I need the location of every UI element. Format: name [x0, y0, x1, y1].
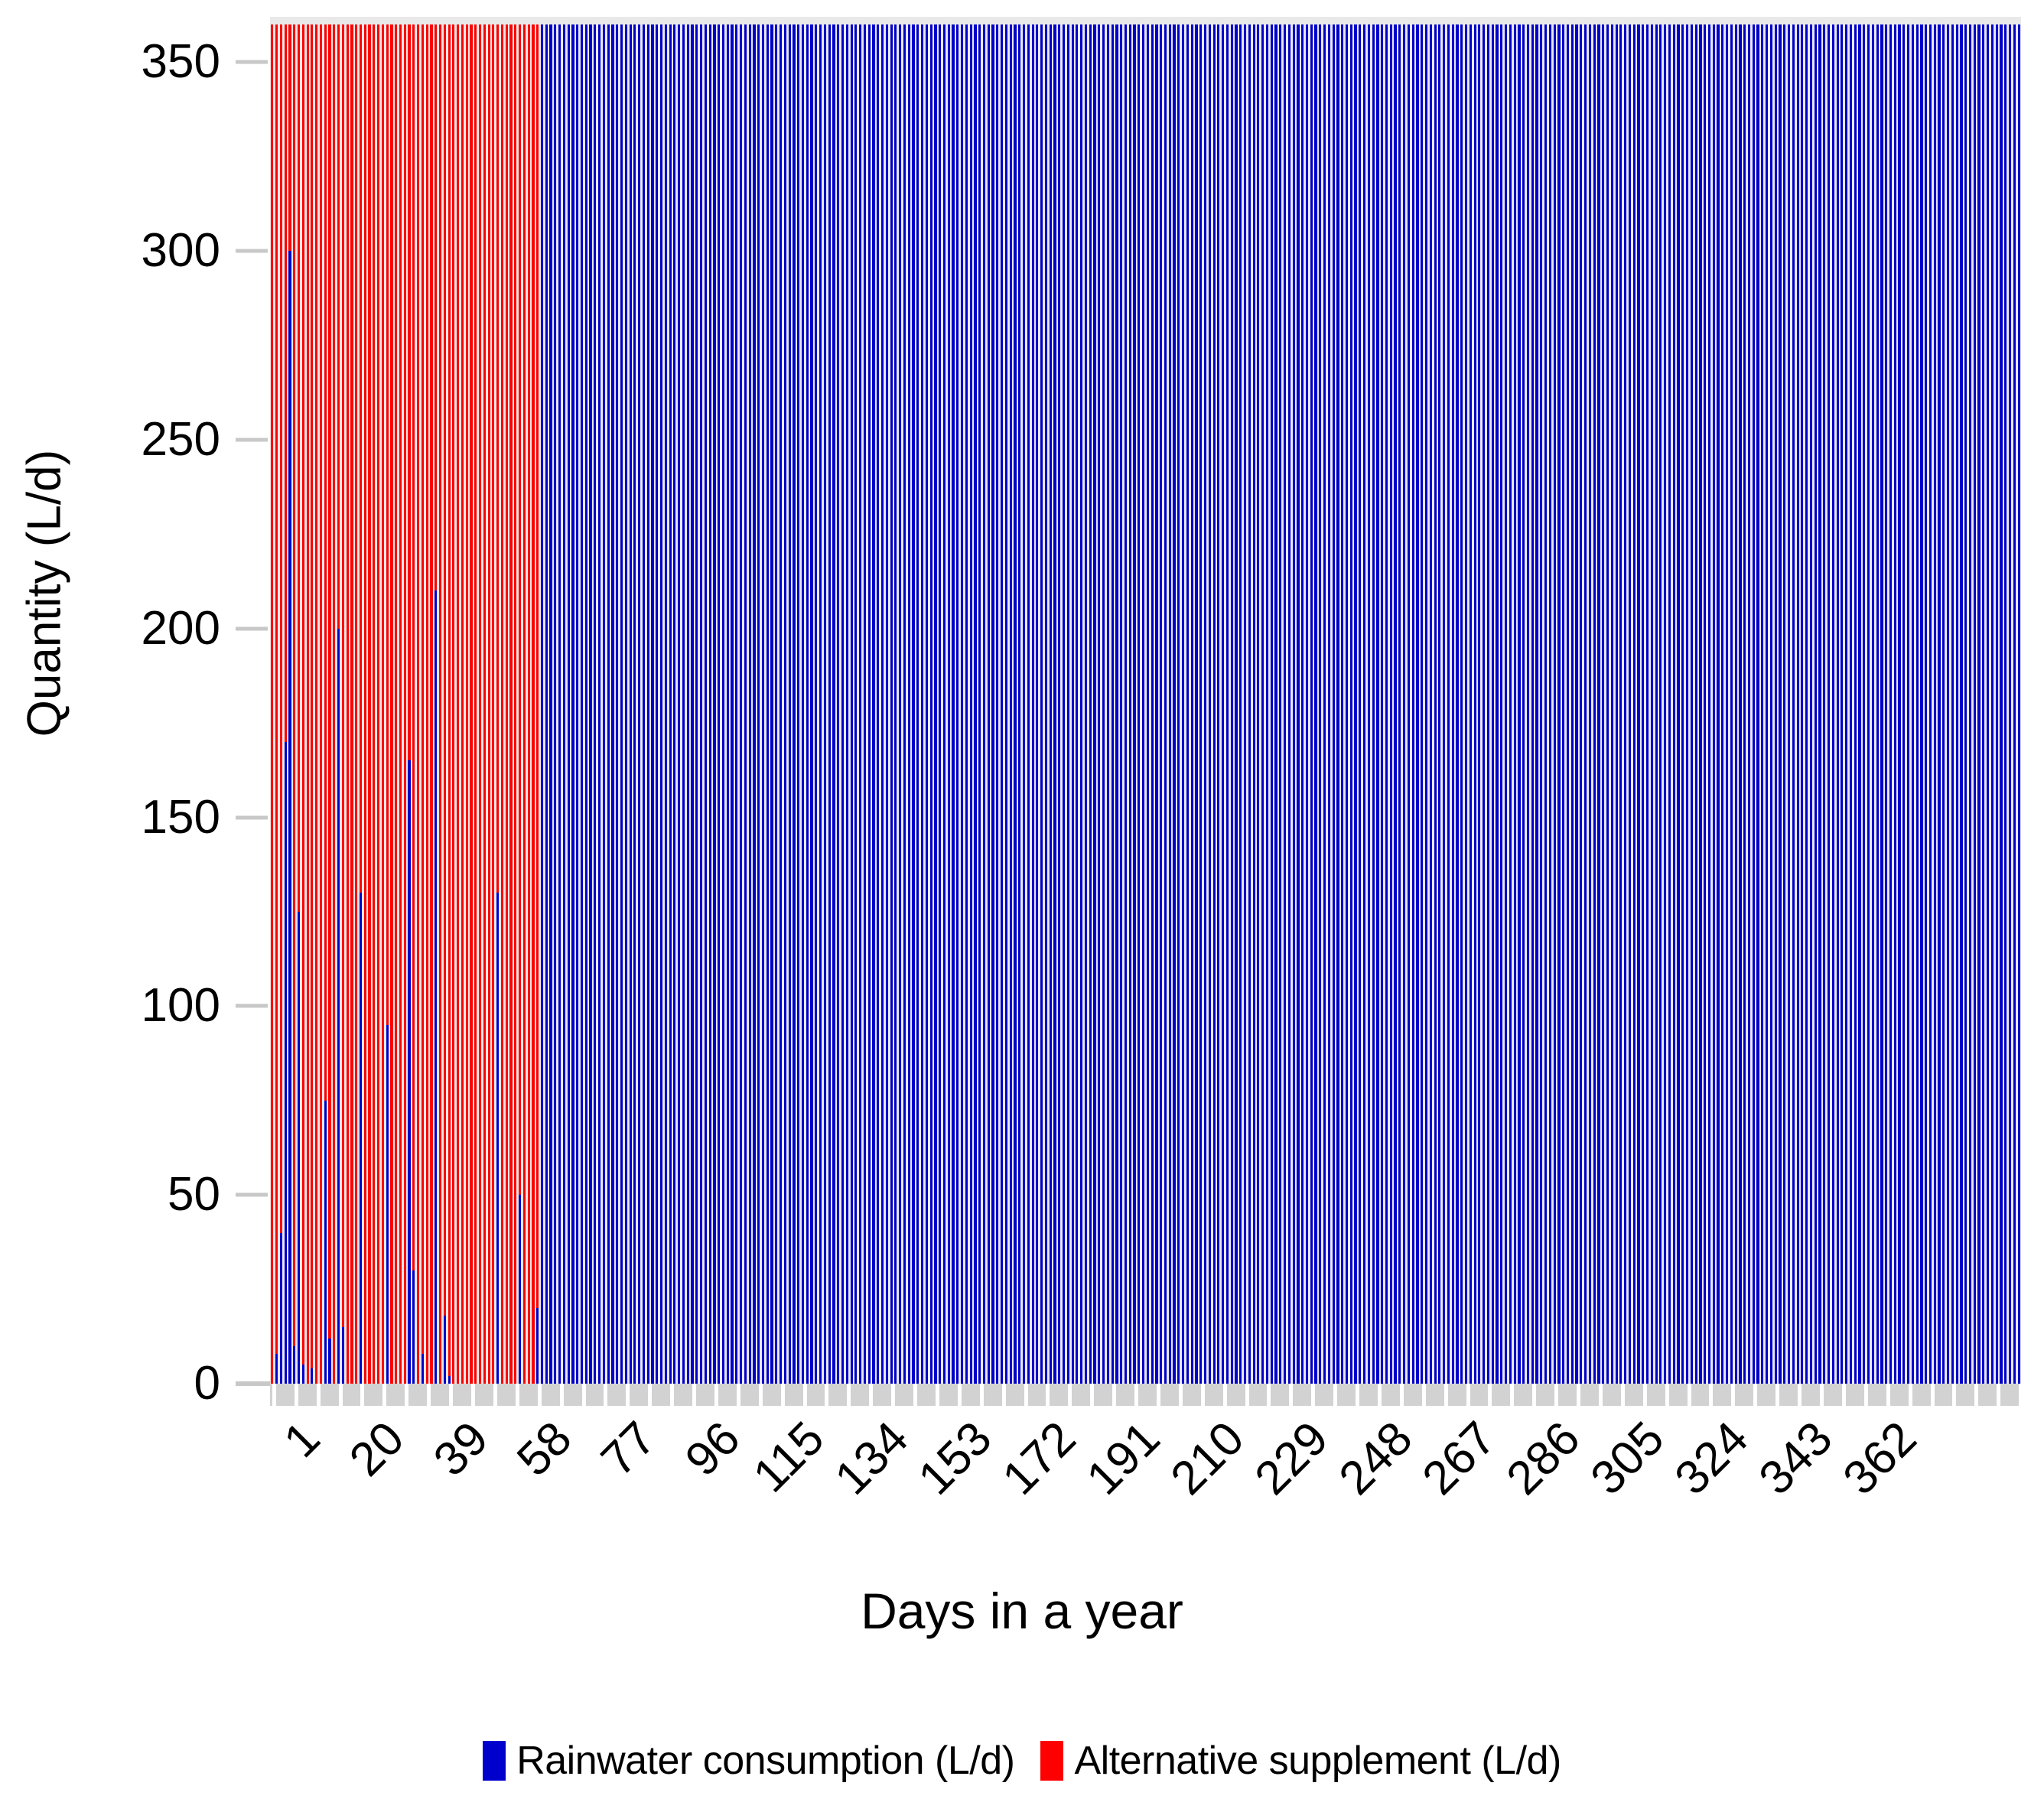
bar-segment-rainwater-consumption — [568, 24, 570, 1384]
bar — [638, 24, 640, 1384]
y-tick-label: 150 — [142, 794, 220, 841]
bar — [930, 24, 932, 1384]
bar-segment-rainwater-consumption — [1629, 24, 1631, 1384]
bar — [1673, 24, 1675, 1384]
bar-segment-rainwater-consumption — [1050, 24, 1052, 1384]
bar-segment-rainwater-consumption — [589, 24, 591, 1384]
bar-segment-rainwater-consumption — [1089, 24, 1092, 1384]
bar — [956, 24, 959, 1384]
bar-segment-rainwater-consumption — [1492, 24, 1494, 1384]
x-tick-label: 267 — [1412, 1411, 1506, 1505]
bar-segment-alternative-supplement — [528, 24, 530, 1384]
bar-segment-rainwater-consumption — [1554, 24, 1556, 1384]
bar-segment-rainwater-consumption — [974, 24, 976, 1384]
bar-segment-alternative-supplement — [457, 24, 459, 1384]
bar-segment-rainwater-consumption — [1209, 24, 1211, 1384]
bar — [1713, 24, 1715, 1384]
bar-segment-rainwater-consumption — [1151, 24, 1154, 1384]
bar-segment-rainwater-consumption — [1743, 24, 1746, 1384]
x-axis-band-tick — [648, 1384, 652, 1406]
bar-segment-rainwater-consumption — [598, 24, 601, 1384]
bar — [1726, 24, 1728, 1384]
bar — [439, 24, 441, 1384]
bar — [625, 24, 627, 1384]
bar-segment-rainwater-consumption — [1199, 24, 1202, 1384]
bar — [1646, 24, 1649, 1384]
bar-segment-rainwater-consumption — [1850, 24, 1852, 1384]
bar-segment-rainwater-consumption — [1597, 24, 1600, 1384]
bar — [630, 24, 632, 1384]
bar — [1204, 24, 1206, 1384]
bar-segment-rainwater-consumption — [753, 24, 755, 1384]
x-tick-label: 305 — [1580, 1411, 1675, 1505]
bar-segment-rainwater-consumption — [1837, 24, 1839, 1384]
x-axis-band-tick — [847, 1384, 851, 1406]
bar-segment-rainwater-consumption — [1894, 24, 1896, 1384]
bar — [1925, 24, 1927, 1384]
bar — [731, 24, 733, 1384]
bar — [1005, 24, 1007, 1384]
bar-segment-alternative-supplement — [488, 24, 490, 1384]
x-axis-band-tick — [1157, 1384, 1160, 1406]
x-axis-band-tick — [1134, 1384, 1138, 1406]
bar-segment-rainwater-consumption — [1593, 24, 1596, 1384]
bar — [687, 24, 689, 1384]
x-axis-band-tick — [737, 1384, 740, 1406]
bar-segment-rainwater-consumption — [1027, 24, 1030, 1384]
bar — [903, 24, 906, 1384]
bar — [948, 24, 950, 1384]
bar-segment-rainwater-consumption — [815, 24, 817, 1384]
x-axis-band-tick — [1179, 1384, 1183, 1406]
bar-segment-rainwater-consumption — [1713, 24, 1715, 1384]
x-tick-label: 248 — [1328, 1411, 1422, 1505]
bar — [1354, 24, 1356, 1384]
bar-segment-rainwater-consumption — [1072, 24, 1074, 1384]
bar-segment-rainwater-consumption — [757, 24, 760, 1384]
bar — [417, 24, 419, 1384]
bar — [532, 24, 534, 1384]
bar-segment-rainwater-consumption — [1323, 24, 1326, 1384]
bar — [554, 24, 556, 1384]
bar-segment-rainwater-consumption — [1779, 24, 1781, 1384]
bar-segment-rainwater-consumption — [1633, 24, 1636, 1384]
bar-segment-rainwater-consumption — [2018, 24, 2020, 1384]
bar-segment-rainwater-consumption — [1076, 24, 1078, 1384]
bar-segment-rainwater-consumption — [1244, 24, 1246, 1384]
bar-segment-alternative-supplement — [492, 24, 494, 1384]
bar — [722, 24, 724, 1384]
bar — [886, 24, 888, 1384]
bar-segment-rainwater-consumption — [824, 24, 826, 1384]
bar — [1412, 24, 1414, 1384]
bar-segment-rainwater-consumption — [337, 629, 340, 1384]
bar-segment-alternative-supplement — [506, 24, 508, 1384]
bar — [1169, 24, 1171, 1384]
bar — [1160, 24, 1162, 1384]
x-tick-label: 191 — [1076, 1411, 1170, 1505]
x-axis-band-tick — [1688, 1384, 1691, 1406]
bar-segment-rainwater-consumption — [1987, 24, 1989, 1384]
bar-segment-rainwater-consumption — [1951, 24, 1954, 1384]
bar — [1633, 24, 1636, 1384]
bar-segment-rainwater-consumption — [1770, 24, 1772, 1384]
bar-segment-rainwater-consumption — [288, 251, 291, 1384]
bar-segment-rainwater-consumption — [1756, 24, 1759, 1384]
bar — [815, 24, 817, 1384]
bar-segment-rainwater-consumption — [1815, 24, 1817, 1384]
bar-segment-rainwater-consumption — [988, 24, 990, 1384]
y-tick-mark — [236, 1193, 268, 1197]
bar — [695, 24, 698, 1384]
bar-segment-rainwater-consumption — [921, 24, 923, 1384]
bar-segment-alternative-supplement — [532, 24, 534, 1384]
bar — [328, 24, 330, 1384]
bar — [576, 24, 578, 1384]
bar-segment-rainwater-consumption — [894, 24, 897, 1384]
bar — [1398, 24, 1401, 1384]
bar-segment-rainwater-consumption — [1739, 24, 1741, 1384]
bar-segment-rainwater-consumption — [1956, 24, 1958, 1384]
y-tick-label: 350 — [142, 38, 220, 86]
bar-segment-rainwater-consumption — [1646, 24, 1649, 1384]
x-axis-band-tick — [1798, 1384, 1802, 1406]
bar — [643, 24, 645, 1384]
x-axis-band-tick — [427, 1384, 431, 1406]
bar — [1982, 24, 1984, 1384]
bar-segment-rainwater-consumption — [1518, 24, 1520, 1384]
bar-segment-rainwater-consumption — [1040, 24, 1043, 1384]
bar — [2004, 24, 2007, 1384]
bar-segment-rainwater-consumption — [1271, 24, 1273, 1384]
bar — [1629, 24, 1631, 1384]
bar-segment-rainwater-consumption — [1902, 24, 1905, 1384]
bar-segment-rainwater-consumption — [594, 24, 596, 1384]
bar-segment-alternative-supplement — [474, 24, 477, 1384]
bar — [1885, 24, 1887, 1384]
bar — [1677, 24, 1679, 1384]
bar — [1756, 24, 1759, 1384]
bar — [1996, 24, 1998, 1384]
bar — [404, 24, 406, 1384]
bar-segment-rainwater-consumption — [1619, 24, 1622, 1384]
bar — [846, 24, 848, 1384]
bar — [770, 24, 773, 1384]
bar-segment-alternative-supplement — [470, 24, 472, 1384]
x-axis-band-tick — [692, 1384, 696, 1406]
bar-segment-rainwater-consumption — [1624, 24, 1626, 1384]
x-axis-band-tick — [604, 1384, 607, 1406]
bar — [1571, 24, 1574, 1384]
bar-segment-rainwater-consumption — [1549, 24, 1551, 1384]
bar-segment-rainwater-consumption — [872, 24, 874, 1384]
bar-segment-rainwater-consumption — [1557, 24, 1560, 1384]
x-tick-label: 39 — [423, 1411, 499, 1487]
bar-segment-rainwater-consumption — [766, 24, 769, 1384]
bar — [1611, 24, 1613, 1384]
bar — [1394, 24, 1396, 1384]
bar-segment-rainwater-consumption — [1155, 24, 1157, 1384]
bar — [749, 24, 751, 1384]
bar — [1293, 24, 1295, 1384]
bar-segment-rainwater-consumption — [1147, 24, 1149, 1384]
bar — [1845, 24, 1847, 1384]
bar — [890, 24, 893, 1384]
bar — [1310, 24, 1313, 1384]
bar — [1527, 24, 1529, 1384]
bar-segment-rainwater-consumption — [890, 24, 893, 1384]
bar — [660, 24, 662, 1384]
bar-segment-alternative-supplement — [430, 24, 432, 1384]
bar — [1284, 24, 1286, 1384]
bar — [1929, 24, 1932, 1384]
legend-item[interactable]: Rainwater consumption (L/d) — [483, 1738, 1014, 1784]
bar-segment-alternative-supplement — [408, 24, 410, 761]
bar — [1704, 24, 1706, 1384]
bar-segment-rainwater-consumption — [1412, 24, 1414, 1384]
bar — [1540, 24, 1542, 1384]
bar — [1301, 24, 1304, 1384]
bar-segment-rainwater-consumption — [625, 24, 627, 1384]
x-axis-band — [270, 1384, 2021, 1406]
bar-segment-rainwater-consumption — [1284, 24, 1286, 1384]
bar-segment-rainwater-consumption — [970, 24, 972, 1384]
bar — [988, 24, 990, 1384]
bar — [647, 24, 649, 1384]
bar-segment-rainwater-consumption — [1942, 24, 1945, 1384]
bar — [1509, 24, 1512, 1384]
bar — [1823, 24, 1825, 1384]
bar — [549, 24, 552, 1384]
bar — [810, 24, 812, 1384]
bar — [1593, 24, 1596, 1384]
bar — [1010, 24, 1012, 1384]
bar — [474, 24, 477, 1384]
x-axis-band-tick — [1245, 1384, 1249, 1406]
bar-segment-rainwater-consumption — [571, 24, 574, 1384]
bar-segment-rainwater-consumption — [1496, 24, 1498, 1384]
bar-segment-rainwater-consumption — [1677, 24, 1679, 1384]
bar — [1416, 24, 1418, 1384]
x-axis-band-tick — [958, 1384, 962, 1406]
bar-segment-rainwater-consumption — [1456, 24, 1458, 1384]
bar-segment-rainwater-consumption — [1045, 24, 1047, 1384]
bar-segment-rainwater-consumption — [1691, 24, 1693, 1384]
bar-segment-rainwater-consumption — [841, 24, 844, 1384]
bar — [1328, 24, 1330, 1384]
x-axis-band-tick — [1886, 1384, 1890, 1406]
bar-segment-alternative-supplement — [302, 24, 304, 1365]
bar-segment-rainwater-consumption — [1788, 24, 1790, 1384]
bar-segment-rainwater-consumption — [536, 1308, 539, 1384]
bar — [1580, 24, 1582, 1384]
bar — [607, 24, 610, 1384]
bar-segment-rainwater-consumption — [908, 24, 910, 1384]
bar — [1642, 24, 1644, 1384]
bar — [1894, 24, 1896, 1384]
bar — [1182, 24, 1184, 1384]
legend-label: Alternative supplement (L/d) — [1074, 1738, 1561, 1784]
bar — [912, 24, 914, 1384]
bar — [1518, 24, 1520, 1384]
bar-segment-rainwater-consumption — [1447, 24, 1450, 1384]
x-axis-band-tick — [339, 1384, 343, 1406]
bar — [1761, 24, 1763, 1384]
bar-segment-rainwater-consumption — [1531, 24, 1534, 1384]
bar — [908, 24, 910, 1384]
bar-segment-rainwater-consumption — [1522, 24, 1525, 1384]
bar-segment-alternative-supplement — [285, 24, 287, 742]
bar — [390, 24, 392, 1384]
bar-segment-rainwater-consumption — [828, 24, 831, 1384]
bar — [1244, 24, 1246, 1384]
bar — [1554, 24, 1556, 1384]
x-axis-band-tick — [1201, 1384, 1205, 1406]
x-axis-band-tick — [913, 1384, 917, 1406]
bar — [983, 24, 985, 1384]
bar — [1027, 24, 1030, 1384]
bar-segment-rainwater-consumption — [1761, 24, 1763, 1384]
bar-segment-rainwater-consumption — [1001, 24, 1003, 1384]
bar-segment-alternative-supplement — [360, 24, 362, 893]
bar — [1072, 24, 1074, 1384]
bar-segment-rainwater-consumption — [1346, 24, 1348, 1384]
x-axis-band-tick — [936, 1384, 939, 1406]
bar — [1858, 24, 1860, 1384]
x-tick-label: 1 — [273, 1411, 330, 1469]
bar-segment-rainwater-consumption — [1535, 24, 1538, 1384]
bar-segment-rainwater-consumption — [939, 24, 941, 1384]
bar-segment-rainwater-consumption — [1602, 24, 1604, 1384]
bar — [364, 24, 366, 1384]
bar — [311, 24, 313, 1384]
bar-segment-rainwater-consumption — [1606, 24, 1609, 1384]
bar — [581, 24, 583, 1384]
x-axis-band-tick — [1997, 1384, 2000, 1406]
bar-segment-rainwater-consumption — [541, 24, 543, 1384]
bar — [1535, 24, 1538, 1384]
bar — [285, 24, 287, 1384]
bar-segment-alternative-supplement — [386, 24, 389, 1025]
x-tick-label: 58 — [507, 1411, 583, 1487]
bar-segment-rainwater-consumption — [943, 24, 946, 1384]
x-tick-label: 343 — [1749, 1411, 1843, 1505]
bar-segment-rainwater-consumption — [1889, 24, 1892, 1384]
bar-segment-rainwater-consumption — [749, 24, 751, 1384]
bar — [2018, 24, 2020, 1384]
bar-segment-alternative-supplement — [399, 24, 402, 1384]
bar — [1120, 24, 1122, 1384]
x-axis-band-tick — [670, 1384, 674, 1406]
bar-segment-rainwater-consumption — [1544, 24, 1547, 1384]
bar — [1934, 24, 1936, 1384]
bar — [315, 24, 317, 1384]
bar — [1155, 24, 1157, 1384]
bar — [633, 24, 636, 1384]
bar-segment-rainwater-consumption — [983, 24, 985, 1384]
bar — [298, 24, 300, 1384]
bar — [528, 24, 530, 1384]
bar — [1549, 24, 1551, 1384]
bar-segment-rainwater-consumption — [859, 24, 861, 1384]
bar-segment-rainwater-consumption — [285, 742, 287, 1384]
bar — [757, 24, 760, 1384]
bar — [1841, 24, 1843, 1384]
bar-segment-rainwater-consumption — [793, 24, 795, 1384]
bar — [1001, 24, 1003, 1384]
bar — [1889, 24, 1892, 1384]
bar — [355, 24, 357, 1384]
legend-item[interactable]: Alternative supplement (L/d) — [1040, 1738, 1561, 1784]
bar-segment-alternative-supplement — [509, 24, 512, 1384]
bar — [598, 24, 601, 1384]
bar-segment-rainwater-consumption — [780, 24, 782, 1384]
bar-segment-rainwater-consumption — [1063, 24, 1065, 1384]
x-axis-band-tick — [1002, 1384, 1006, 1406]
bar-segment-rainwater-consumption — [1655, 24, 1658, 1384]
x-tick-label: 362 — [1832, 1411, 1926, 1505]
bar-segment-rainwater-consumption — [1730, 24, 1733, 1384]
bar-segment-rainwater-consumption — [926, 24, 928, 1384]
bar-segment-rainwater-consumption — [1142, 24, 1144, 1384]
bar-segment-rainwater-consumption — [293, 1346, 295, 1384]
x-axis-band-tick — [1621, 1384, 1625, 1406]
bar-segment-alternative-supplement — [307, 24, 309, 1384]
bar-segment-rainwater-consumption — [1191, 24, 1193, 1384]
bar — [1788, 24, 1790, 1384]
bar-segment-rainwater-consumption — [1452, 24, 1454, 1384]
bar — [762, 24, 764, 1384]
bar-segment-rainwater-consumption — [412, 1270, 415, 1384]
bar — [368, 24, 370, 1384]
bar — [740, 24, 742, 1384]
bar — [651, 24, 653, 1384]
bar-segment-rainwater-consumption — [519, 1195, 521, 1384]
bar — [1792, 24, 1795, 1384]
bar-segment-rainwater-consumption — [881, 24, 884, 1384]
bar — [1195, 24, 1197, 1384]
bar-segment-alternative-supplement — [417, 24, 419, 1384]
bar-segment-alternative-supplement — [364, 24, 366, 1384]
x-axis-band-tick — [471, 1384, 475, 1406]
bar — [1346, 24, 1348, 1384]
bar — [399, 24, 402, 1384]
bar — [1739, 24, 1741, 1384]
bar-segment-rainwater-consumption — [1138, 24, 1140, 1384]
bar — [806, 24, 809, 1384]
x-axis-band-tick — [1510, 1384, 1514, 1406]
bar — [1721, 24, 1723, 1384]
bar — [784, 24, 786, 1384]
bar — [1421, 24, 1423, 1384]
bar — [1271, 24, 1273, 1384]
bar-segment-alternative-supplement — [280, 24, 282, 1233]
bar-segment-rainwater-consumption — [819, 24, 822, 1384]
bar — [1584, 24, 1587, 1384]
bar-segment-rainwater-consumption — [1686, 24, 1688, 1384]
bar-segment-rainwater-consumption — [1085, 24, 1087, 1384]
x-axis-band-tick — [1775, 1384, 1779, 1406]
bar — [1231, 24, 1233, 1384]
bar-segment-rainwater-consumption — [1403, 24, 1405, 1384]
bar-segment-rainwater-consumption — [934, 24, 936, 1384]
bar — [1239, 24, 1242, 1384]
bar-segment-rainwater-consumption — [630, 24, 632, 1384]
x-axis-band-tick — [1289, 1384, 1293, 1406]
bar-segment-rainwater-consumption — [1186, 24, 1189, 1384]
bar — [1987, 24, 1989, 1384]
bar-segment-rainwater-consumption — [2000, 24, 2002, 1384]
